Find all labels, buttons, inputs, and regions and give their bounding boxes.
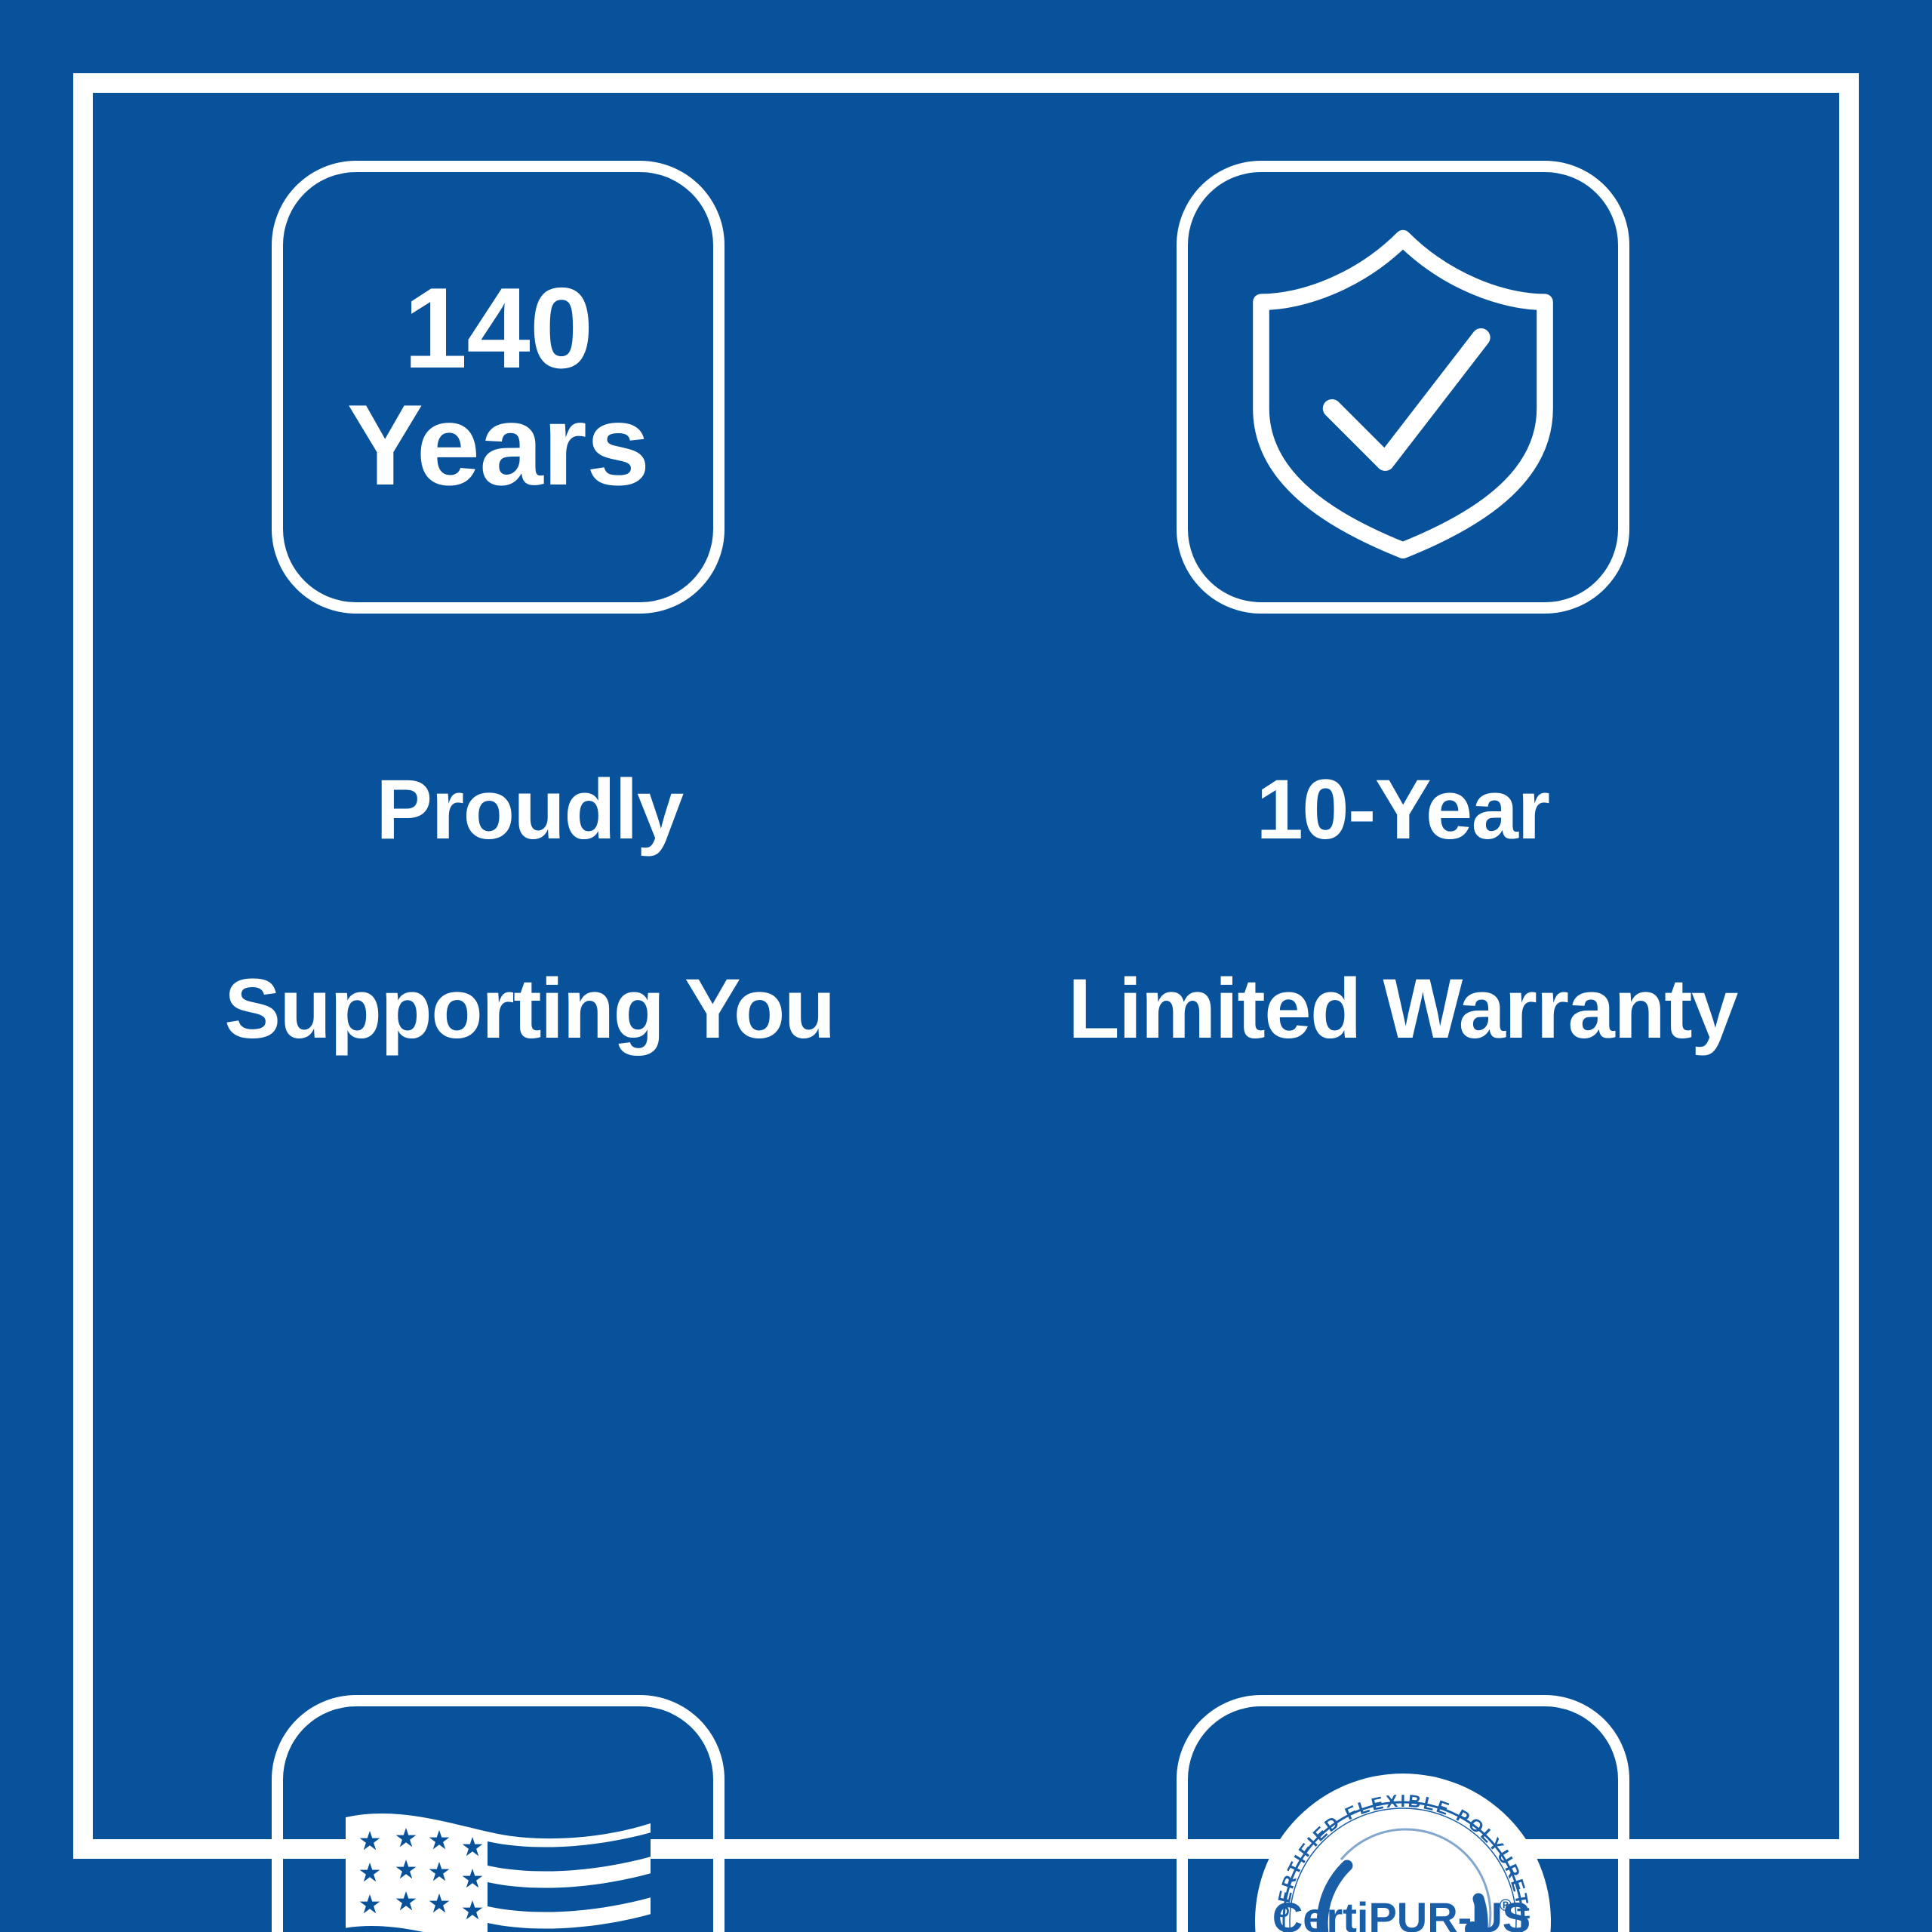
certipur-us-seal-glyph: CertiPUR-US ® CONTAINS CERTIFIED FLEXIBL… <box>1252 1770 1554 1932</box>
seal-wordmark: CertiPUR-US <box>1272 1894 1530 1932</box>
years-icon-text: 140 Years <box>347 270 650 504</box>
years-number: 140 <box>347 270 650 387</box>
shield-check-glyph <box>1226 210 1580 565</box>
caption-line-2: Limited Warranty <box>1068 959 1737 1059</box>
years-word: Years <box>347 387 650 504</box>
badge-warranty: 10-Year Limited Warranty <box>966 93 1839 1159</box>
usa-flag-glyph <box>340 1808 657 1932</box>
caption-line-1: 10-Year <box>1068 760 1737 860</box>
badge-grid: 140 Years Proudly Supporting You 10-Year… <box>93 93 1839 1839</box>
badge-years: 140 Years Proudly Supporting You <box>93 93 966 1159</box>
badge-warranty-caption: 10-Year Limited Warranty <box>1068 660 1737 1159</box>
number-badge-icon: 140 Years <box>272 161 724 614</box>
badge-certipur: CertiPUR-US ® CONTAINS CERTIFIED FLEXIBL… <box>966 1159 1839 1932</box>
caption-line-1: Proudly <box>224 760 835 860</box>
promo-badge-panel: 140 Years Proudly Supporting You 10-Year… <box>0 0 1932 1932</box>
shield-check-icon <box>1177 161 1629 614</box>
seal-wordmark-registered-mark: ® <box>1499 1896 1511 1915</box>
usa-flag-icon <box>272 1695 724 1932</box>
caption-line-2: Supporting You <box>224 959 835 1059</box>
badge-usa: Designed and Assembled in the USA <box>93 1159 966 1932</box>
badge-years-caption: Proudly Supporting You <box>224 660 835 1159</box>
certipur-us-seal-icon: CertiPUR-US ® CONTAINS CERTIFIED FLEXIBL… <box>1177 1695 1629 1932</box>
